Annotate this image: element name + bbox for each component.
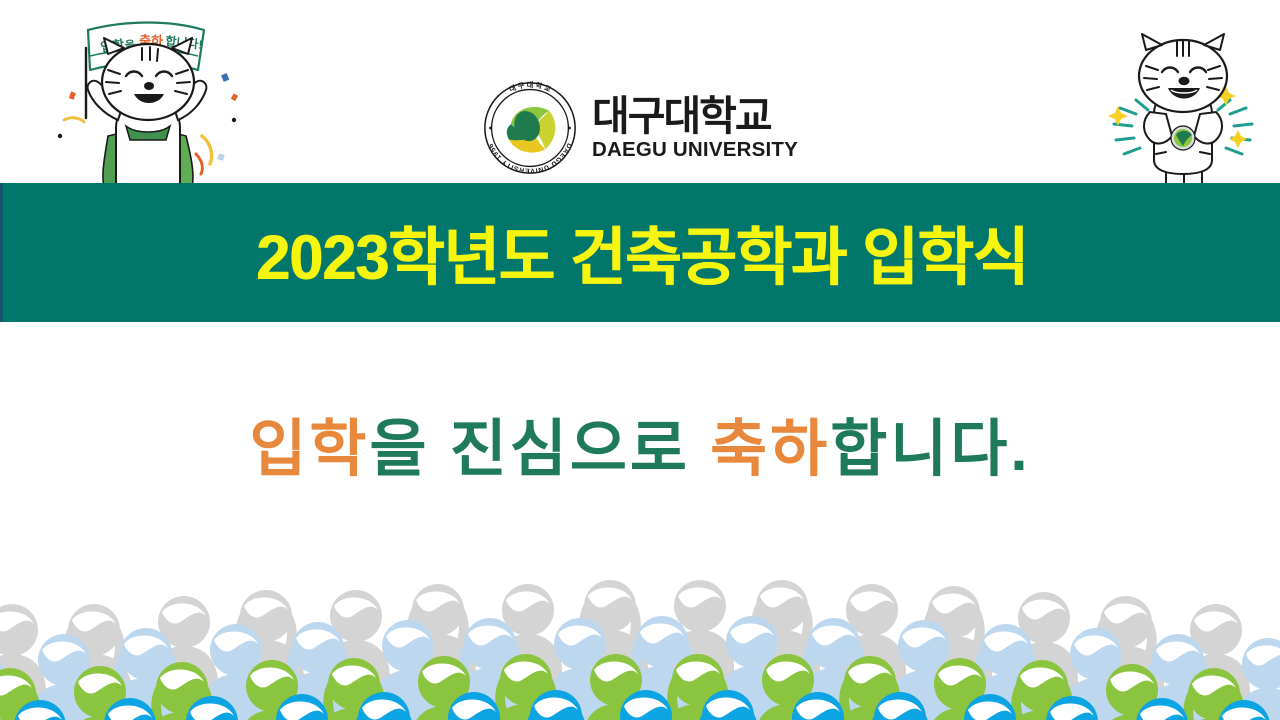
subtitle-segment-1: 입학 bbox=[249, 415, 369, 484]
subtitle-segment-4: 합니다. bbox=[830, 415, 1030, 484]
university-logo: 대 구 대 학 교 DAEGU UNIVERSITY 1956 대구대학교 DA… bbox=[482, 76, 812, 180]
logo-wordmark-english: DAEGU UNIVERSITY bbox=[592, 140, 798, 161]
title-banner: 2023학년도 건축공학과 입학식 bbox=[0, 183, 1280, 322]
slide-canvas: 입학 을 축하 합니다! bbox=[0, 0, 1280, 720]
tiger-mascot-with-flag: 입학 을 축하 합니다! bbox=[46, 8, 251, 208]
page-title: 2023학년도 건축공학과 입학식 bbox=[256, 207, 1028, 298]
subtitle-segment-3: 축하 bbox=[710, 415, 830, 484]
subtitle-segment-2: 을 진심으로 bbox=[369, 415, 710, 484]
tiger-mascot-with-medal bbox=[1092, 22, 1274, 202]
congratulation-message: 입학을 진심으로 축하합니다. bbox=[0, 398, 1280, 488]
logo-wordmark-korean: 대구대학교 bbox=[592, 96, 798, 137]
audience-crowd-illustration bbox=[0, 520, 1280, 720]
daegu-university-emblem-icon: 대 구 대 학 교 DAEGU UNIVERSITY 1956 bbox=[482, 80, 578, 176]
